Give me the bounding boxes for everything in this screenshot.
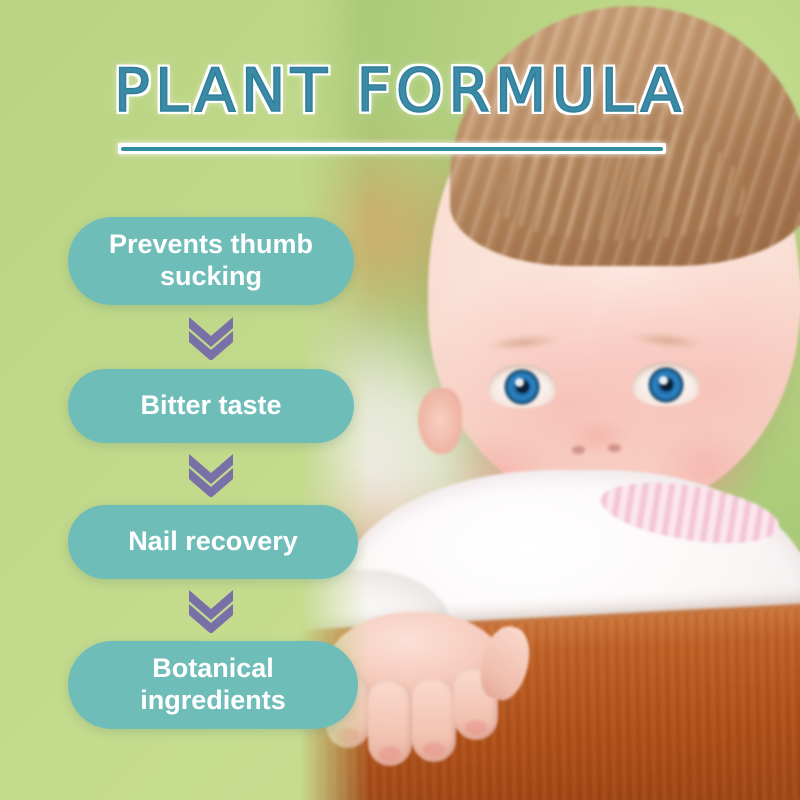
title-divider-rule xyxy=(118,143,666,154)
baby-fingernail xyxy=(465,720,487,735)
page-title: PLANT FORMULA xyxy=(0,56,800,126)
baby-finger xyxy=(412,678,456,762)
baby-nostril-right xyxy=(608,444,621,452)
baby-fingernail xyxy=(423,742,445,757)
flow-step-prevents-thumb-sucking[interactable]: Prevents thumb sucking xyxy=(68,217,354,305)
baby-iris-left xyxy=(505,370,539,404)
flow-step-label: Prevents thumb sucking xyxy=(109,229,313,293)
baby-finger xyxy=(368,680,412,766)
page-title-text: PLANT FORMULA xyxy=(114,56,687,126)
flow-connector-2 xyxy=(68,443,354,505)
baby-fingernail xyxy=(337,728,359,743)
poster-canvas: PLANT FORMULA Prevents thumb sucking Bit… xyxy=(0,0,800,800)
baby-fingernail xyxy=(379,746,401,761)
flow-step-label: Nail recovery xyxy=(128,526,298,558)
benefits-flow: Prevents thumb sucking Bitter taste Nail… xyxy=(68,217,368,729)
flow-step-bitter-taste[interactable]: Bitter taste xyxy=(68,369,354,443)
baby-eye-right xyxy=(632,362,700,406)
flow-step-label: Botanical ingredients xyxy=(140,653,286,717)
baby-nostril-left xyxy=(572,446,585,454)
flow-connector-1 xyxy=(68,305,354,369)
double-chevron-down-icon xyxy=(183,451,239,497)
double-chevron-down-icon xyxy=(183,587,239,633)
baby-iris-right xyxy=(649,368,683,402)
flow-step-label: Bitter taste xyxy=(140,390,281,422)
flow-connector-3 xyxy=(68,579,354,641)
flow-step-nail-recovery[interactable]: Nail recovery xyxy=(68,505,358,579)
flow-step-botanical-ingredients[interactable]: Botanical ingredients xyxy=(68,641,358,729)
double-chevron-down-icon xyxy=(183,314,239,360)
baby-eye-left xyxy=(488,364,556,408)
